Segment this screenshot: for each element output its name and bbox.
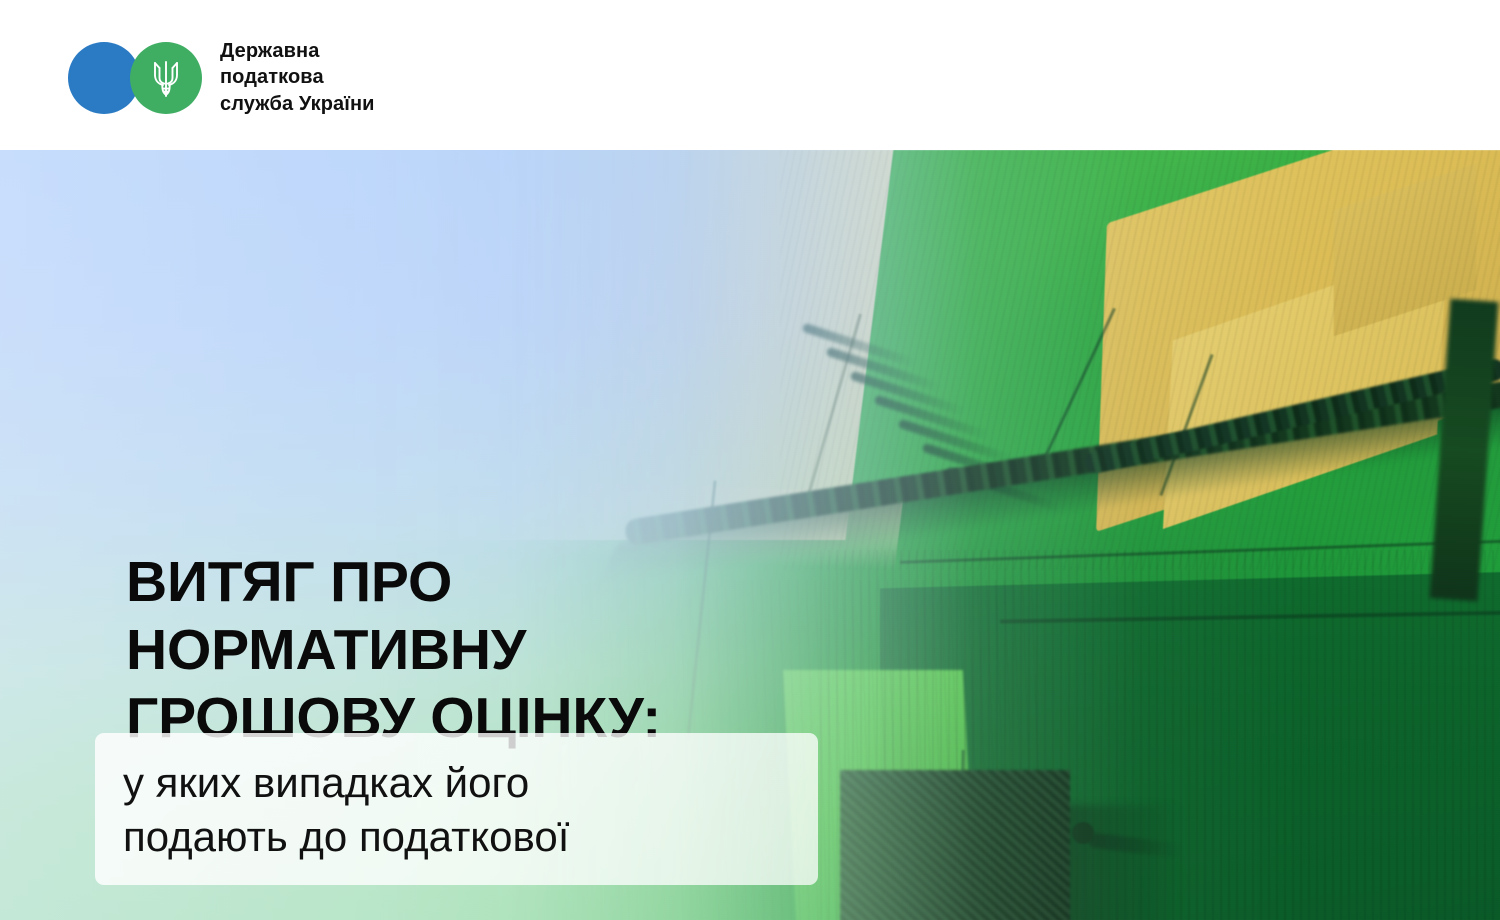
subtitle-card: у яких випадках його подають до податков… bbox=[95, 733, 818, 885]
organization-logo[interactable]: Державна податкова служба України bbox=[68, 38, 375, 117]
ukrainian-trident-emblem-icon bbox=[149, 56, 183, 100]
poster-canvas: Державна податкова служба України bbox=[0, 0, 1500, 920]
organization-name: Державна податкова служба України bbox=[220, 38, 375, 117]
woodland-block bbox=[840, 770, 1070, 920]
hero-artwork: ВИТЯГ ПРО НОРМАТИВНУ ГРОШОВУ ОЦІНКУ: у я… bbox=[0, 150, 1500, 920]
logo-mark-group bbox=[68, 42, 202, 114]
green-circle-icon bbox=[130, 42, 202, 114]
lone-tree bbox=[1072, 822, 1094, 844]
subtitle-text: у яких випадках його подають до податков… bbox=[123, 756, 790, 864]
header-band: Державна податкова служба України bbox=[0, 0, 1500, 150]
page-title: ВИТЯГ ПРО НОРМАТИВНУ ГРОШОВУ ОЦІНКУ: bbox=[126, 548, 661, 752]
